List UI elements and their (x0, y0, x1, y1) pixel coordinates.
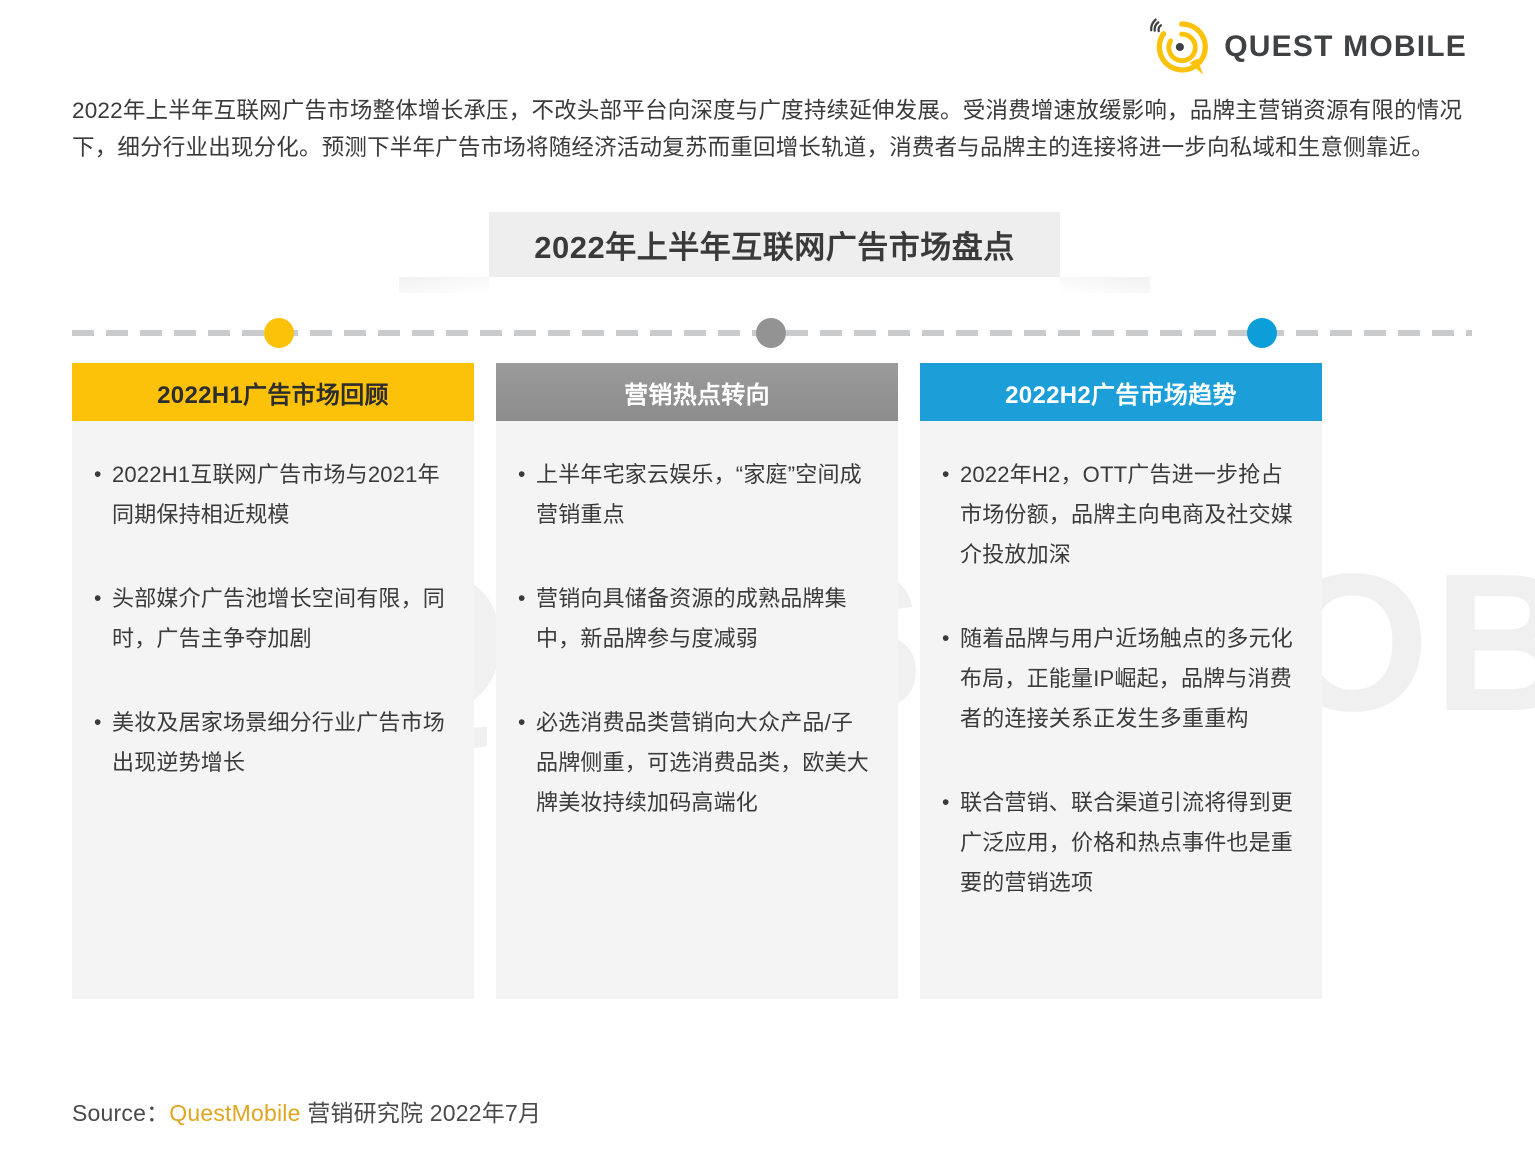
bullet-glyph: • (514, 579, 536, 619)
list-item: • 美妆及居家场景细分行业广告市场出现逆势增长 (90, 703, 448, 783)
bullet-glyph: • (90, 455, 112, 495)
bullet-glyph: • (938, 455, 960, 495)
milestone-dot-marketing-shift (756, 318, 786, 348)
bullet-text: 必选消费品类营销向大众产品/子品牌侧重，可选消费品类，欧美大牌美妆持续加码高端化 (536, 703, 872, 823)
list-item: • 上半年宅家云娱乐，“家庭”空间成营销重点 (514, 455, 872, 535)
column-body-h2-trend: • 2022年H2，OTT广告进一步抢占市场份额，品牌主向电商及社交媒介投放加深… (920, 421, 1322, 999)
source-label: Source： (72, 1100, 169, 1126)
bullet-text: 头部媒介广告池增长空间有限，同时，广告主争夺加剧 (112, 579, 448, 659)
column-h1-review: 2022H1广告市场回顾 • 2022H1互联网广告市场与2021年同期保持相近… (72, 363, 474, 999)
intro-paragraph: 2022年上半年互联网广告市场整体增长承压，不改头部平台向深度与广度持续延伸发展… (72, 92, 1472, 166)
column-header-marketing-shift: 营销热点转向 (496, 363, 898, 421)
bullet-text: 随着品牌与用户近场触点的多元化布局，正能量IP崛起，品牌与消费者的连接关系正发生… (960, 619, 1296, 739)
bullet-glyph: • (938, 783, 960, 823)
slide-canvas: QUEST MOBILE QUEST MOBILE 2022年上半年互联网广告市… (0, 0, 1535, 1151)
questmobile-swoosh-icon (1148, 17, 1210, 77)
list-item: • 2022H1互联网广告市场与2021年同期保持相近规模 (90, 455, 448, 535)
list-item: • 头部媒介广告池增长空间有限，同时，广告主争夺加剧 (90, 579, 448, 659)
bullet-glyph: • (938, 619, 960, 659)
list-item: • 2022年H2，OTT广告进一步抢占市场份额，品牌主向电商及社交媒介投放加深 (938, 455, 1296, 575)
bullet-glyph: • (90, 703, 112, 743)
source-footer: Source：QuestMobile 营销研究院 2022年7月 (72, 1094, 541, 1128)
bullet-text: 美妆及居家场景细分行业广告市场出现逆势增长 (112, 703, 448, 783)
milestone-dot-h1-review (264, 318, 294, 348)
section-title-text: 2022年上半年互联网广告市场盘点 (534, 222, 1014, 267)
bullet-text: 联合营销、联合渠道引流将得到更广泛应用，价格和热点事件也是重要的营销选项 (960, 783, 1296, 903)
bullet-glyph: • (514, 703, 536, 743)
bullet-text: 营销向具储备资源的成熟品牌集中，新品牌参与度减弱 (536, 579, 872, 659)
column-h2-trend: 2022H2广告市场趋势 • 2022年H2，OTT广告进一步抢占市场份额，品牌… (920, 363, 1322, 999)
section-title-banner: 2022年上半年互联网广告市场盘点 (489, 212, 1060, 277)
bullet-glyph: • (90, 579, 112, 619)
list-item: • 必选消费品类营销向大众产品/子品牌侧重，可选消费品类，欧美大牌美妆持续加码高… (514, 703, 872, 823)
source-detail: 营销研究院 2022年7月 (301, 1100, 542, 1126)
bullet-text: 上半年宅家云娱乐，“家庭”空间成营销重点 (536, 455, 872, 535)
brand-logo-wordmark: QUEST MOBILE (1224, 30, 1467, 64)
column-marketing-hotspot-shift: 营销热点转向 • 上半年宅家云娱乐，“家庭”空间成营销重点 • 营销向具储备资源… (496, 363, 898, 999)
bullet-text: 2022H1互联网广告市场与2021年同期保持相近规模 (112, 455, 448, 535)
banner-shadow-left (399, 277, 489, 293)
banner-shadow-right (1060, 277, 1150, 293)
column-header-text: 2022H1广告市场回顾 (157, 375, 389, 410)
column-body-marketing-shift: • 上半年宅家云娱乐，“家庭”空间成营销重点 • 营销向具储备资源的成熟品牌集中… (496, 421, 898, 999)
milestone-dot-h2-trend (1247, 318, 1277, 348)
column-header-text: 营销热点转向 (624, 375, 770, 410)
column-header-text: 2022H2广告市场趋势 (1005, 375, 1237, 410)
column-header-h1-review: 2022H1广告市场回顾 (72, 363, 474, 421)
brand-logo: QUEST MOBILE (1148, 16, 1467, 78)
timeline (72, 318, 1472, 348)
column-header-h2-trend: 2022H2广告市场趋势 (920, 363, 1322, 421)
column-body-h1-review: • 2022H1互联网广告市场与2021年同期保持相近规模 • 头部媒介广告池增… (72, 421, 474, 999)
bullet-text: 2022年H2，OTT广告进一步抢占市场份额，品牌主向电商及社交媒介投放加深 (960, 455, 1296, 575)
source-brand: QuestMobile (169, 1100, 300, 1126)
columns-container: 2022H1广告市场回顾 • 2022H1互联网广告市场与2021年同期保持相近… (72, 363, 1472, 999)
bullet-glyph: • (514, 455, 536, 495)
list-item: • 联合营销、联合渠道引流将得到更广泛应用，价格和热点事件也是重要的营销选项 (938, 783, 1296, 903)
list-item: • 营销向具储备资源的成熟品牌集中，新品牌参与度减弱 (514, 579, 872, 659)
list-item: • 随着品牌与用户近场触点的多元化布局，正能量IP崛起，品牌与消费者的连接关系正… (938, 619, 1296, 739)
